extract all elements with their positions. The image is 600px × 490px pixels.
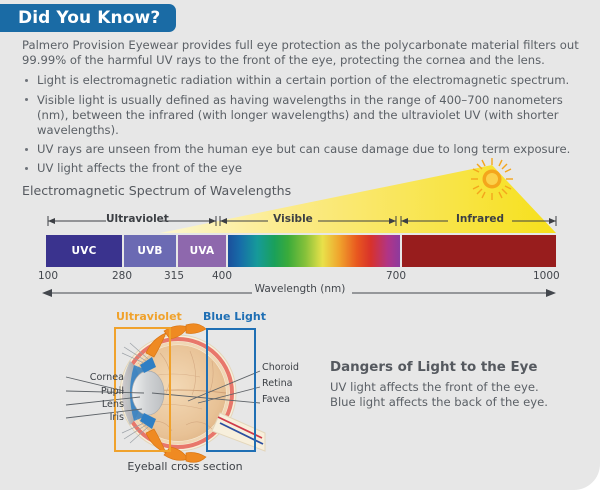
list-item: Visible light is usually defined as havi…	[22, 93, 584, 139]
eye-label-iris: Iris	[54, 412, 124, 423]
eye-label-favea: Favea	[262, 394, 290, 405]
dangers-title: Dangers of Light to the Eye	[330, 360, 580, 375]
tick-315: 315	[164, 270, 184, 282]
list-item-text: Light is electromagnetic radiation withi…	[37, 73, 569, 87]
list-item-text: Visible light is usually defined as havi…	[37, 93, 563, 137]
dangers-line-1: UV light affects the front of the eye.	[330, 380, 580, 395]
eye-label-retina: Retina	[262, 378, 293, 389]
eye-label-pupil: Pupil	[54, 386, 124, 397]
list-item: Light is electromagnetic radiation withi…	[22, 73, 584, 88]
eye-label-cornea: Cornea	[54, 372, 124, 383]
bullet-dot-icon	[25, 148, 28, 151]
bracket-label-infrared: Infrared	[448, 211, 512, 227]
wavelength-axis-label: Wavelength (nm)	[0, 283, 600, 295]
did-you-know-badge: Did You Know?	[0, 4, 176, 32]
infographic-page: Did You Know? Palmero Provision Eyewear …	[0, 0, 600, 490]
bracket-label-visible: Visible	[268, 211, 318, 227]
band-label-uvb: UVB	[124, 235, 176, 267]
bullet-dot-icon	[25, 79, 28, 82]
spectrum-band-uvb: UVB	[124, 235, 176, 267]
eye-label-lens: Lens	[54, 399, 124, 410]
intro-paragraph: Palmero Provision Eyewear provides full …	[22, 38, 584, 68]
tick-280: 280	[112, 270, 132, 282]
blue-light-region-box	[206, 328, 256, 452]
spectrum-band-uva: UVA	[178, 235, 226, 267]
tick-700: 700	[386, 270, 406, 282]
spectrum-band-infrared	[402, 235, 556, 267]
tick-100: 100	[38, 270, 58, 282]
dangers-text-block: Dangers of Light to the Eye UV light aff…	[330, 360, 580, 410]
dangers-line-2: Blue light affects the back of the eye.	[330, 395, 580, 410]
bracket-label-ultraviolet: Ultraviolet	[106, 211, 160, 227]
bullet-dot-icon	[25, 98, 28, 101]
badge-label: Did You Know?	[18, 10, 160, 27]
sun-icon	[470, 157, 514, 201]
eye-label-choroid: Choroid	[262, 362, 299, 373]
spectrum-band-uvc: UVC	[46, 235, 122, 267]
tick-400: 400	[212, 270, 232, 282]
spectrum-band-visible	[228, 235, 400, 267]
band-label-uva: UVA	[178, 235, 226, 267]
eye-diagram-caption: Eyeball cross section	[60, 460, 310, 473]
band-label-uvc: UVC	[46, 235, 122, 267]
tick-1000: 1000	[533, 270, 560, 282]
